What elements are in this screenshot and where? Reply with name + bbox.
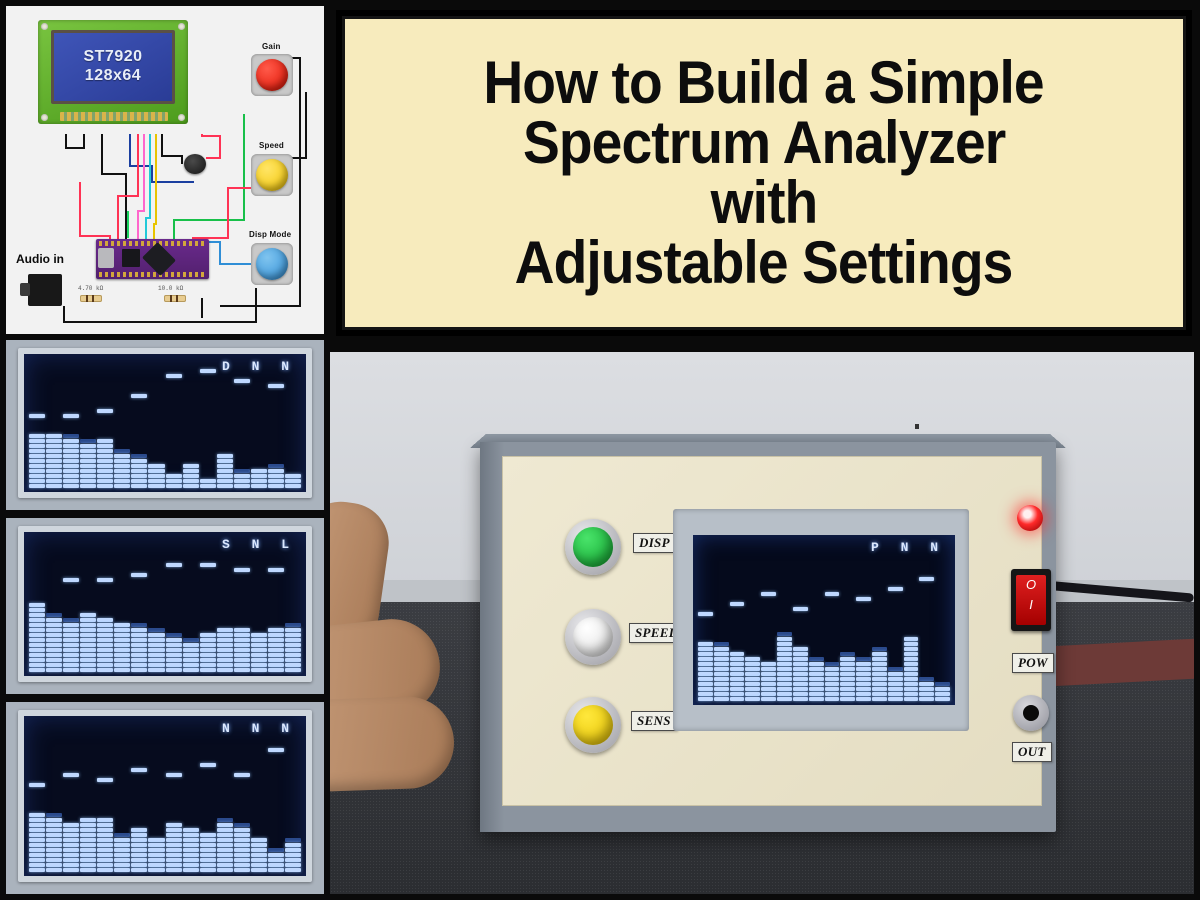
spectrum-segment <box>200 863 216 867</box>
spectrum-segment <box>285 593 301 597</box>
spectrum-segment <box>234 459 250 463</box>
spectrum-segment <box>234 863 250 867</box>
spectrum-segment <box>745 662 760 666</box>
spectrum-segment <box>730 647 745 651</box>
spectrum-segment <box>97 638 113 642</box>
spectrum-segment <box>29 808 45 812</box>
spectrum-segment <box>268 663 284 667</box>
spectrum-bar-column <box>217 720 233 872</box>
spectrum-segment <box>200 858 216 862</box>
display-mode-text: D N N <box>222 359 296 374</box>
output-jack[interactable] <box>1013 695 1049 731</box>
spectrum-segment <box>114 853 130 857</box>
spectrum-bar-column <box>234 720 250 872</box>
spectrum-segment <box>234 469 250 473</box>
spectrum-segment <box>761 662 776 666</box>
spectrum-segment <box>183 628 199 632</box>
spectrum-segment <box>114 424 130 428</box>
spectrum-segment <box>904 682 919 686</box>
spectrum-segment <box>217 439 233 443</box>
spectrum-segment <box>97 484 113 488</box>
spectrum-segment <box>809 627 824 631</box>
display-screen: N N N <box>24 716 306 876</box>
spectrum-segment <box>825 657 840 661</box>
spectrum-segment <box>935 677 950 681</box>
spectrum-segment <box>698 657 713 661</box>
spectrum-segment <box>29 803 45 807</box>
spectrum-peak-marker <box>200 563 216 567</box>
spectrum-segment <box>148 434 164 438</box>
spectrum-segment <box>46 653 62 657</box>
spectrum-segment <box>285 618 301 622</box>
spectrum-segment <box>97 668 113 672</box>
spectrum-segment <box>825 622 840 626</box>
spectrum-segment <box>148 439 164 443</box>
spectrum-segment <box>183 623 199 627</box>
spectrum-segment <box>251 793 267 797</box>
spectrum-segment <box>183 653 199 657</box>
spectrum-segment <box>200 868 216 872</box>
spectrum-segment <box>114 419 130 423</box>
spectrum-segment <box>131 838 147 842</box>
spectrum-segment <box>217 793 233 797</box>
spectrum-segment <box>217 798 233 802</box>
spectrum-segment <box>29 793 45 797</box>
spectrum-segment <box>148 648 164 652</box>
spectrum-segment <box>183 833 199 837</box>
spectrum-segment <box>148 843 164 847</box>
spectrum-segment <box>63 638 79 642</box>
spectrum-segment <box>217 808 233 812</box>
spectrum-segment <box>285 658 301 662</box>
spectrum-segment <box>761 647 776 651</box>
spectrum-segment <box>251 439 267 443</box>
spectrum-segment <box>131 793 147 797</box>
spectrum-segment <box>200 843 216 847</box>
spectrum-segment <box>29 623 45 627</box>
spectrum-peak-marker <box>919 577 934 581</box>
spectrum-segment <box>234 424 250 428</box>
spectrum-segment <box>63 843 79 847</box>
spectrum-segment <box>285 798 301 802</box>
spectrum-segment <box>935 627 950 631</box>
resistor-1-value: 4.70 kΩ <box>78 285 103 292</box>
spectrum-segment <box>730 662 745 666</box>
spectrum-segment <box>200 813 216 817</box>
spectrum-segment <box>200 823 216 827</box>
spectrum-segment <box>183 444 199 448</box>
spectrum-segment <box>200 628 216 632</box>
spectrum-segment <box>268 424 284 428</box>
spectrum-segment <box>46 658 62 662</box>
spectrum-segment <box>166 828 182 832</box>
spectrum-segment <box>46 484 62 488</box>
spectrum-segment <box>872 657 887 661</box>
spectrum-segment <box>730 652 745 656</box>
spectrum-segment <box>285 853 301 857</box>
spectrum-segment <box>217 459 233 463</box>
spectrum-segment <box>166 608 182 612</box>
spectrum-segment <box>251 658 267 662</box>
spectrum-segment <box>29 658 45 662</box>
spectrum-segment <box>97 818 113 822</box>
spectrum-segment <box>285 843 301 847</box>
spectrum-segment <box>131 469 147 473</box>
spectrum-segment <box>285 793 301 797</box>
device-button-disp[interactable] <box>565 519 621 575</box>
spectrum-segment <box>234 598 250 602</box>
resistor-2-graphic <box>164 295 186 302</box>
spectrum-segment <box>285 638 301 642</box>
spectrum-segment <box>761 682 776 686</box>
spectrum-segment <box>63 793 79 797</box>
spectrum-segment <box>904 652 919 656</box>
spectrum-segment <box>183 848 199 852</box>
spectrum-segment <box>166 464 182 468</box>
spectrum-segment <box>148 838 164 842</box>
spectrum-segment <box>793 652 808 656</box>
spectrum-segment <box>46 618 62 622</box>
spectrum-segment <box>935 682 950 686</box>
spectrum-segment <box>251 429 267 433</box>
spectrum-segment <box>114 838 130 842</box>
spectrum-segment <box>29 663 45 667</box>
spectrum-segment <box>268 658 284 662</box>
spectrum-segment <box>114 863 130 867</box>
spectrum-segment <box>904 647 919 651</box>
spectrum-segment <box>285 643 301 647</box>
spectrum-segment <box>761 672 776 676</box>
spectrum-segment <box>856 662 871 666</box>
spectrum-bar-column <box>935 539 950 701</box>
spectrum-segment <box>217 469 233 473</box>
spectrum-segment <box>251 848 267 852</box>
spectrum-segment <box>114 808 130 812</box>
spectrum-segment <box>872 677 887 681</box>
spectrum-segment <box>131 818 147 822</box>
spectrum-segment <box>698 677 713 681</box>
spectrum-segment <box>131 848 147 852</box>
spectrum-segment <box>793 647 808 651</box>
spectrum-segment <box>872 652 887 656</box>
spectrum-segment <box>745 667 760 671</box>
spectrum-segment <box>63 464 79 468</box>
spectrum-segment <box>148 419 164 423</box>
schematic-button-gain <box>251 54 293 96</box>
spectrum-segment <box>97 439 113 443</box>
display-mode-text: S N L <box>222 537 296 552</box>
spectrum-segment <box>217 434 233 438</box>
spectrum-segment <box>148 823 164 827</box>
spectrum-segment <box>285 663 301 667</box>
spectrum-segment <box>714 632 729 636</box>
spectrum-segment <box>268 633 284 637</box>
spectrum-segment <box>234 434 250 438</box>
spectrum-segment <box>698 687 713 691</box>
spectrum-segment <box>97 464 113 468</box>
spectrum-segment <box>80 638 96 642</box>
power-rocker-switch[interactable]: OI <box>1011 569 1051 631</box>
spectrum-segment <box>80 668 96 672</box>
spectrum-segment <box>698 652 713 656</box>
spectrum-segment <box>166 648 182 652</box>
spectrum-segment <box>745 672 760 676</box>
spectrum-segment <box>777 682 792 686</box>
spectrum-segment <box>183 593 199 597</box>
spectrum-segment <box>840 682 855 686</box>
spectrum-segment <box>251 628 267 632</box>
spectrum-segment <box>97 424 113 428</box>
spectrum-segment <box>97 838 113 842</box>
spectrum-segment <box>29 618 45 622</box>
spectrum-segment <box>268 429 284 433</box>
spectrum-segment <box>63 454 79 458</box>
spectrum-segment <box>777 687 792 691</box>
spectrum-segment <box>777 657 792 661</box>
spectrum-segment <box>714 652 729 656</box>
spectrum-segment <box>148 858 164 862</box>
spectrum-segment <box>148 818 164 822</box>
spectrum-segment <box>268 643 284 647</box>
spectrum-segment <box>63 798 79 802</box>
spectrum-segment <box>46 848 62 852</box>
spectrum-segment <box>200 429 216 433</box>
spectrum-segment <box>809 687 824 691</box>
spectrum-segment <box>80 618 96 622</box>
spectrum-segment <box>200 474 216 478</box>
spectrum-segment <box>80 479 96 483</box>
spectrum-segment <box>166 469 182 473</box>
spectrum-bar-column <box>872 539 887 701</box>
spectrum-segment <box>46 838 62 842</box>
spectrum-segment <box>63 838 79 842</box>
spectrum-segment <box>888 672 903 676</box>
spectrum-segment <box>183 843 199 847</box>
spectrum-segment <box>714 692 729 696</box>
spectrum-segment <box>97 868 113 872</box>
spectrum-peak-marker <box>268 748 284 752</box>
spectrum-segment <box>761 637 776 641</box>
spectrum-segment <box>217 658 233 662</box>
spectrum-segment <box>888 632 903 636</box>
spectrum-segment <box>114 803 130 807</box>
spectrum-segment <box>148 828 164 832</box>
spectrum-segment <box>63 434 79 438</box>
spectrum-segment <box>80 424 96 428</box>
spectrum-segment <box>29 633 45 637</box>
spectrum-segment <box>200 469 216 473</box>
spectrum-segment <box>251 663 267 667</box>
spectrum-segment <box>29 653 45 657</box>
spectrum-segment <box>46 643 62 647</box>
spectrum-segment <box>761 697 776 701</box>
spectrum-segment <box>200 818 216 822</box>
spectrum-segment <box>888 692 903 696</box>
spectrum-segment <box>268 613 284 617</box>
spectrum-segment <box>234 623 250 627</box>
spectrum-segment <box>745 642 760 646</box>
lcd-module-graphic: ST7920 128x64 <box>38 20 188 124</box>
spectrum-segment <box>29 608 45 612</box>
spectrum-segment <box>166 793 182 797</box>
spectrum-segment <box>234 628 250 632</box>
spectrum-segment <box>114 444 130 448</box>
spectrum-segment <box>856 677 871 681</box>
spectrum-bar-column <box>809 539 824 701</box>
spectrum-segment <box>714 667 729 671</box>
spectrum-segment <box>825 697 840 701</box>
spectrum-segment <box>29 429 45 433</box>
spectrum-segment <box>63 648 79 652</box>
spectrum-segment <box>234 484 250 488</box>
spectrum-segment <box>251 813 267 817</box>
spectrum-segment <box>29 668 45 672</box>
spectrum-segment <box>97 459 113 463</box>
spectrum-segment <box>714 682 729 686</box>
spectrum-segment <box>97 474 113 478</box>
spectrum-segment <box>46 798 62 802</box>
spectrum-segment <box>166 638 182 642</box>
spectrum-segment <box>148 474 164 478</box>
spectrum-bar-column <box>777 539 792 701</box>
device-button-speed[interactable] <box>565 609 621 665</box>
device-label-pow: POW <box>1012 653 1054 673</box>
arduino-nano-graphic <box>96 239 209 279</box>
spectrum-segment <box>80 454 96 458</box>
spectrum-segment <box>97 454 113 458</box>
spectrum-segment <box>251 419 267 423</box>
spectrum-segment <box>730 632 745 636</box>
spectrum-segment <box>234 823 250 827</box>
spectrum-bar-column <box>200 536 216 672</box>
spectrum-segment <box>183 603 199 607</box>
spectrum-segment <box>888 642 903 646</box>
spectrum-segment <box>29 648 45 652</box>
spectrum-segment <box>840 662 855 666</box>
spectrum-segment <box>935 667 950 671</box>
spectrum-segment <box>268 444 284 448</box>
spectrum-segment <box>183 793 199 797</box>
spectrum-segment <box>234 593 250 597</box>
spectrum-segment <box>268 608 284 612</box>
device-button-sens[interactable] <box>565 697 621 753</box>
spectrum-segment <box>183 803 199 807</box>
spectrum-segment <box>97 444 113 448</box>
spectrum-segment <box>114 663 130 667</box>
spectrum-segment <box>80 444 96 448</box>
spectrum-segment <box>856 642 871 646</box>
faceplate: DISP SPEED SENS P N N OI POW OUT <box>502 456 1042 806</box>
spectrum-segment <box>80 813 96 817</box>
title-panel: How to Build a Simple Spectrum Analyzer … <box>336 10 1192 336</box>
spectrum-segment <box>80 484 96 488</box>
spectrum-segment <box>825 632 840 636</box>
spectrum-peak-marker <box>131 394 147 398</box>
spectrum-segment <box>183 858 199 862</box>
spectrum-bar-column <box>840 539 855 701</box>
spectrum-segment <box>840 672 855 676</box>
spectrum-peak-marker <box>200 763 216 767</box>
spectrum-segment <box>217 638 233 642</box>
spectrum-segment <box>63 593 79 597</box>
spectrum-segment <box>166 623 182 627</box>
spectrum-segment <box>166 853 182 857</box>
spectrum-segment <box>217 613 233 617</box>
spectrum-segment <box>131 484 147 488</box>
spectrum-segment <box>29 833 45 837</box>
spectrum-segment <box>217 603 233 607</box>
spectrum-segment <box>183 484 199 488</box>
spectrum-segment <box>131 613 147 617</box>
spectrum-segment <box>730 687 745 691</box>
spectrum-segment <box>268 818 284 822</box>
spectrum-segment <box>234 633 250 637</box>
spectrum-segment <box>234 818 250 822</box>
spectrum-bar-column <box>97 358 113 488</box>
spectrum-segment <box>148 603 164 607</box>
spectrum-peak-marker <box>234 379 250 383</box>
spectrum-segment <box>825 672 840 676</box>
spectrum-segment <box>29 643 45 647</box>
spectrum-segment <box>234 638 250 642</box>
spectrum-segment <box>63 419 79 423</box>
spectrum-segment <box>251 454 267 458</box>
spectrum-segment <box>872 662 887 666</box>
spectrum-segment <box>114 653 130 657</box>
spectrum-segment <box>46 434 62 438</box>
spectrum-segment <box>856 672 871 676</box>
spectrum-segment <box>166 868 182 872</box>
spectrum-segment <box>46 613 62 617</box>
spectrum-segment <box>840 637 855 641</box>
spectrum-segment <box>63 459 79 463</box>
spectrum-segment <box>251 648 267 652</box>
spectrum-segment <box>285 668 301 672</box>
spectrum-segment <box>63 474 79 478</box>
spectrum-segment <box>809 672 824 676</box>
spectrum-bar-column <box>268 720 284 872</box>
spectrum-segment <box>251 598 267 602</box>
device-label-sens: SENS <box>631 711 677 731</box>
spectrum-segment <box>935 637 950 641</box>
spectrum-bars <box>29 720 301 872</box>
spectrum-segment <box>793 672 808 676</box>
spectrum-segment <box>285 484 301 488</box>
spectrum-segment <box>166 803 182 807</box>
lcd-glass: ST7920 128x64 <box>54 33 172 101</box>
spectrum-segment <box>935 632 950 636</box>
schematic-label-audio-in: Audio in <box>16 252 64 266</box>
spectrum-segment <box>825 667 840 671</box>
spectrum-segment <box>714 657 729 661</box>
spectrum-segment <box>29 603 45 607</box>
spectrum-segment <box>148 598 164 602</box>
spectrum-bar-column <box>46 536 62 672</box>
spectrum-segment <box>46 454 62 458</box>
spectrum-bar-column <box>234 358 250 488</box>
spectrum-segment <box>809 692 824 696</box>
spectrum-segment <box>63 479 79 483</box>
spectrum-segment <box>840 697 855 701</box>
spectrum-segment <box>217 648 233 652</box>
lcd-controller-text: ST7920 <box>83 48 142 67</box>
spectrum-bar-column <box>166 358 182 488</box>
spectrum-segment <box>285 848 301 852</box>
spectrum-segment <box>166 823 182 827</box>
spectrum-segment <box>919 692 934 696</box>
spectrum-segment <box>793 632 808 636</box>
spectrum-segment <box>935 642 950 646</box>
